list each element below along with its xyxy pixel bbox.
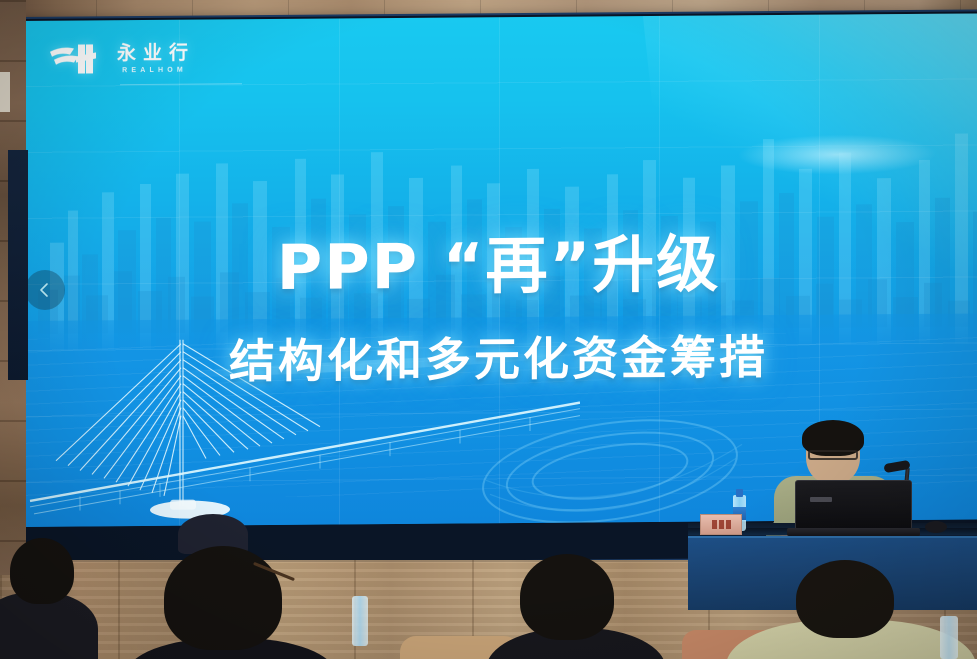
audience-head: [10, 538, 74, 604]
yh-monogram-logo-icon: [48, 42, 98, 75]
laptop-brand-logo: [810, 497, 832, 502]
slide-title-sub: 结构化和多元化资金筹措: [20, 319, 977, 393]
nameplate-glyph: [719, 520, 724, 529]
audience-head: [520, 554, 614, 640]
audience-water-bottle: [352, 596, 368, 646]
presenter-laptop: [795, 480, 912, 530]
wall-marker: [0, 72, 10, 112]
nameplate-glyph: [726, 520, 731, 529]
desk-nameplate: [700, 514, 742, 535]
conference-photo-scene: 永业行 REALHOM PPP “再”升级 结构化和多元化资金筹措: [0, 0, 977, 659]
audience-head: [164, 546, 282, 650]
company-name-cn: 永业行: [110, 43, 195, 63]
audience-head: [796, 560, 894, 638]
slide-title-main: PPP “再”升级: [20, 211, 977, 309]
company-name-en: REALHOM: [118, 66, 187, 74]
audience-water-bottle-right: [940, 616, 958, 659]
left-wall-dark-strip: [8, 150, 28, 380]
computer-mouse: [925, 521, 947, 533]
presenter-glasses: [808, 450, 858, 460]
chevron-left-icon: [37, 282, 53, 298]
slide-logo-text: 永业行 REALHOM: [110, 43, 195, 74]
laptop-base: [787, 528, 920, 536]
water-bottle-cap: [736, 489, 743, 497]
prev-slide-button[interactable]: [25, 270, 65, 310]
slide-logo: 永业行 REALHOM: [48, 42, 195, 76]
nameplate-glyph: [712, 520, 717, 529]
